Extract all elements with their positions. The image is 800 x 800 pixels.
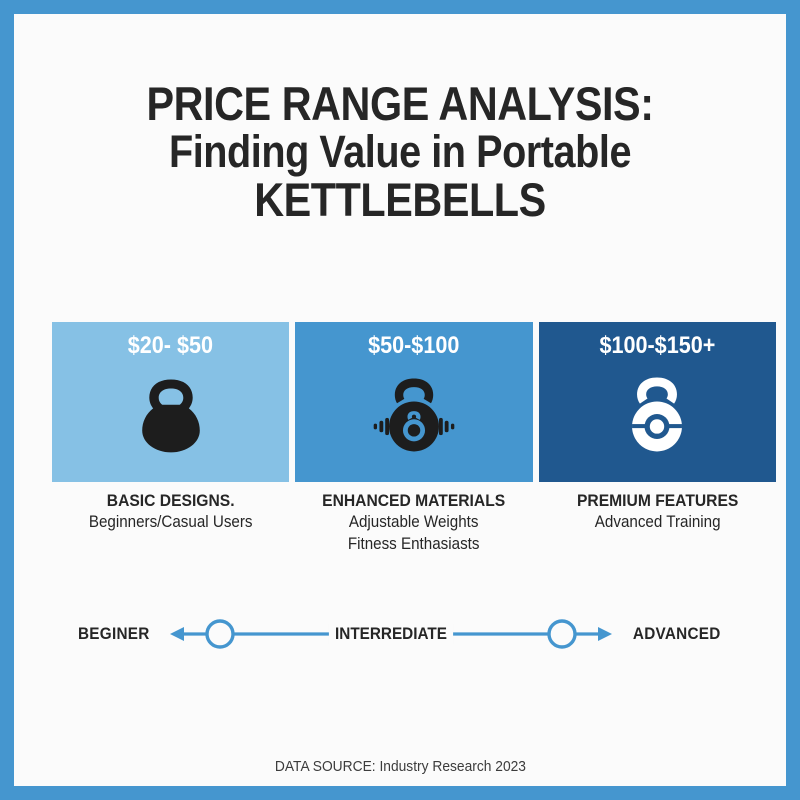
price-tier-captions: BASIC DESIGNS. Beginners/Casual Users EN…: [52, 490, 776, 556]
caption-sub-premium-1: Advanced Training: [548, 512, 766, 534]
skill-progression-scale: BEGINER INTERREDIATE ADVANCED: [14, 612, 786, 656]
scale-label-beginner: BEGINER: [78, 624, 150, 644]
data-source-text: DATA SOURCE: Industry Research 2023: [274, 758, 525, 775]
footer: DATA SOURCE: Industry Research 2023: [14, 758, 786, 776]
price-tier-cards: $20- $50 $50-$100: [52, 322, 776, 482]
title-line-3: KETTLEBELLS: [60, 176, 739, 225]
title-line-1: PRICE RANGE ANALYSIS:: [60, 80, 739, 129]
scale-arrow-graphic: [168, 612, 614, 656]
scale-label-advanced: ADVANCED: [633, 624, 721, 644]
price-card-enhanced[interactable]: $50-$100: [295, 322, 532, 482]
caption-premium: PREMIUM FEATURES Advanced Training: [539, 490, 776, 556]
kettlebell-dumbbell-icon: [366, 366, 462, 462]
caption-sub-enhanced-1: Adjustable Weights: [305, 512, 523, 534]
caption-sub-basic-1: Beginners/Casual Users: [61, 512, 279, 534]
price-card-basic[interactable]: $20- $50: [52, 322, 289, 482]
caption-title-enhanced: ENHANCED MATERIALS: [305, 490, 523, 512]
caption-basic: BASIC DESIGNS. Beginners/Casual Users: [52, 490, 289, 556]
caption-title-basic: BASIC DESIGNS.: [61, 490, 279, 512]
caption-sub-enhanced-2: Fitness Enthasiasts: [305, 534, 523, 556]
price-card-premium[interactable]: $100-$150+: [539, 322, 776, 482]
title-line-2: Finding Value in Portable: [60, 129, 739, 176]
infographic-canvas: PRICE RANGE ANALYSIS: Finding Value in P…: [14, 14, 786, 786]
caption-title-premium: PREMIUM FEATURES: [548, 490, 766, 512]
kettlebell-solid-icon: [123, 366, 219, 462]
price-label-enhanced: $50-$100: [368, 332, 459, 360]
scale-track: INTERREDIATE: [168, 612, 614, 656]
kettlebell-ring-icon: [609, 366, 705, 462]
price-label-basic: $20- $50: [128, 332, 213, 360]
caption-enhanced: ENHANCED MATERIALS Adjustable Weights Fi…: [295, 490, 532, 556]
page-title: PRICE RANGE ANALYSIS: Finding Value in P…: [14, 80, 786, 225]
infographic-frame: PRICE RANGE ANALYSIS: Finding Value in P…: [0, 0, 800, 800]
price-label-premium: $100-$150+: [599, 332, 715, 360]
scale-node-right: [549, 621, 575, 647]
scale-node-left: [207, 621, 233, 647]
